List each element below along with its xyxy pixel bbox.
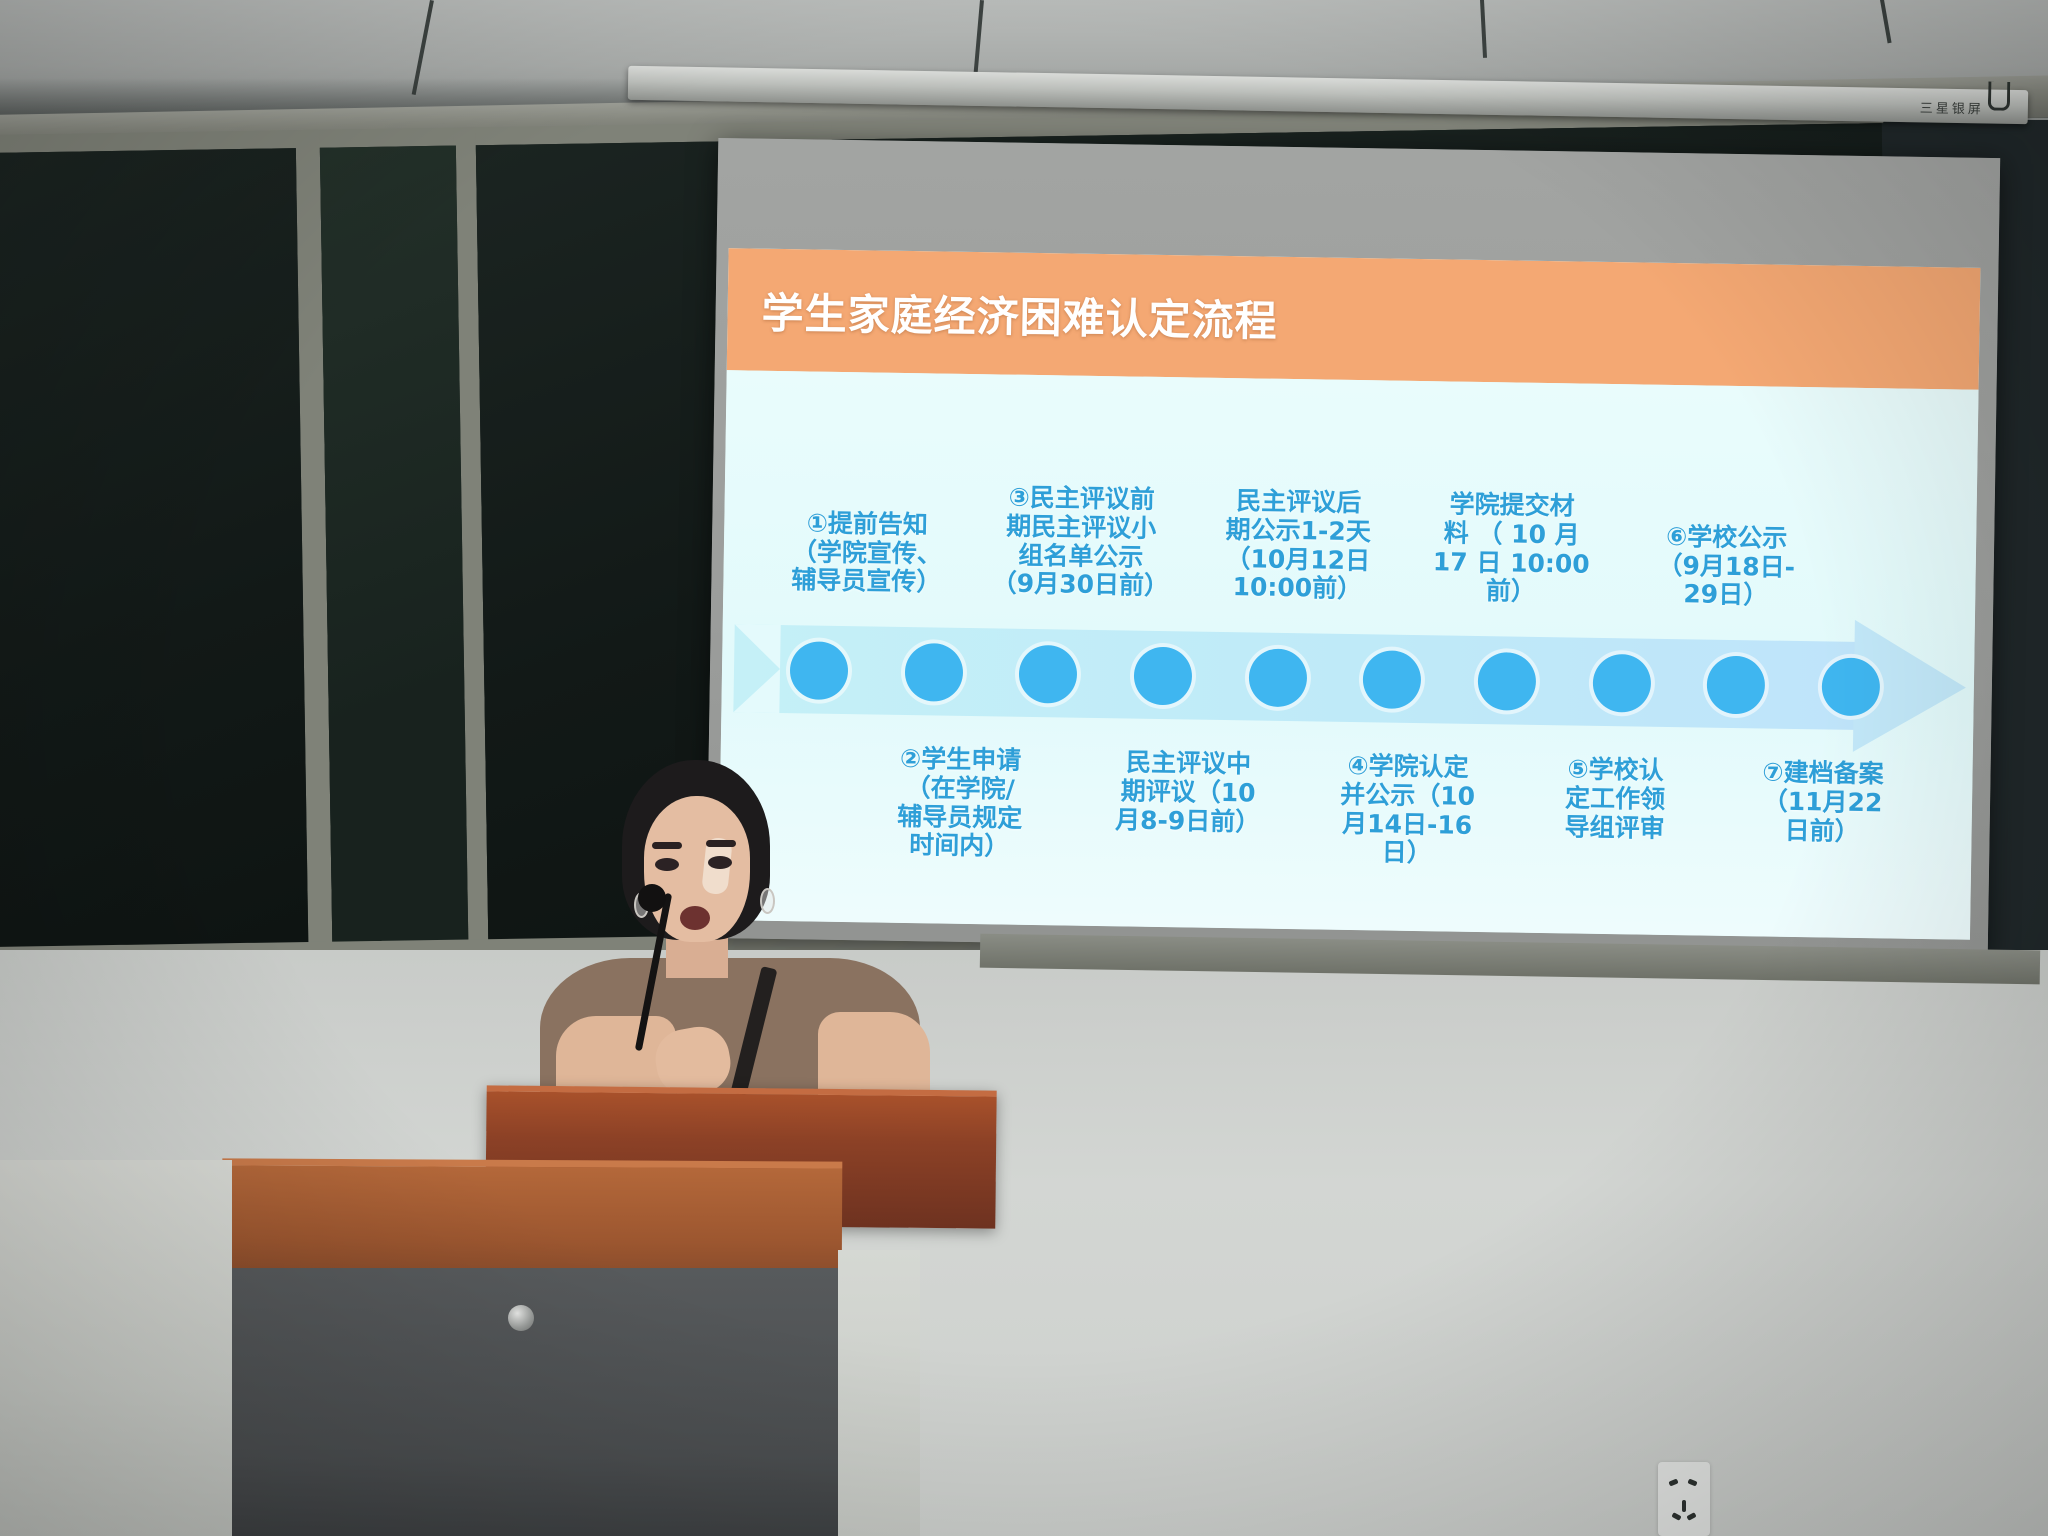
timeline-bottom-label-5: ⑦建档备案 （11月22 日前） [1729,758,1915,847]
timeline-bottom-label-4: ⑤学校认 定工作领 导组评审 [1524,755,1705,844]
wall-outlet[interactable] [1658,1462,1710,1536]
timeline-bottom-label-1: ②学生申请 （在学院/ 辅导员规定 时间内） [859,744,1061,862]
podium-side-left [0,1160,232,1536]
microphone-icon [638,884,666,912]
ceiling-seam [973,0,984,78]
timeline-dot [1248,648,1307,707]
timeline-dot [1019,645,1078,704]
timeline-top-label-1: ①提前告知 （学院宣传、 辅导员宣传） [761,508,972,598]
screen-hook-icon [1988,82,2011,111]
timeline-dot [1592,654,1651,713]
timeline-bottom-labels: ②学生申请 （在学院/ 辅导员规定 时间内）民主评议中 期评议（10 月8-9日… [718,742,1973,940]
timeline-dot [790,641,849,700]
timeline-arrow [733,602,1963,753]
podium-base [222,1268,842,1536]
timeline-bottom-label-3: ④学院认定 并公示（10 月14日-16 日） [1309,751,1506,869]
podium-side-right [838,1250,920,1536]
ceiling-seam [1480,0,1487,58]
speaker-mouth [680,906,710,930]
speaker-eye-left [655,858,679,871]
slide-body: ①提前告知 （学院宣传、 辅导员宣传）③民主评议前 期民主评议小 组名单公示 （… [718,370,1978,940]
speaker-earring-right [760,888,775,914]
speaker-person [600,760,860,1120]
timeline-dot [1707,656,1766,715]
arrow-tail-notch [733,624,780,713]
timeline-top-label-5: ⑥学校公示 （9月18日- 29日） [1628,522,1824,611]
timeline-top-label-3: 民主评议后 期公示1-2天 （10月12日 10:00前） [1197,487,1399,605]
timeline-dot [1821,657,1880,716]
classroom-presentation-scene: 三星银屏 学生家庭经济困难认定流程 ①提前告知 （学院宣传、 辅导员宣传）③民主… [0,0,2048,1536]
ceiling-seam [1880,0,1892,43]
timeline-dot [1133,647,1192,706]
timeline-dot [904,643,963,702]
timeline-top-label-4: 学院提交材 料 （ 10 月 17 日 10:00 前） [1413,490,1610,608]
speaker-eye-right [708,856,732,869]
presentation-slide: 学生家庭经济困难认定流程 ①提前告知 （学院宣传、 辅导员宣传）③民主评议前 期… [718,248,1980,940]
slide-title: 学生家庭经济困难认定流程 [761,279,1278,348]
timeline-top-label-2: ③民主评议前 期民主评议小 组名单公示 （9月30日前） [975,483,1187,601]
podium-lock-knob[interactable] [508,1305,534,1331]
timeline-bottom-label-2: 民主评议中 期评议（10 月8-9日前） [1087,748,1288,837]
projection-screen: 学生家庭经济困难认定流程 ①提前告知 （学院宣传、 辅导员宣传）③民主评议前 期… [706,138,2000,958]
timeline-dot [1363,650,1422,709]
timeline-dot [1477,652,1536,711]
timeline-top-labels: ①提前告知 （学院宣传、 辅导员宣传）③民主评议前 期民主评议小 组名单公示 （… [723,394,1978,614]
speaker-brow-right [706,840,736,847]
projector-brand-label: 三星银屏 [1920,97,1984,117]
speaker-brow-left [652,842,682,849]
slide-header-band: 学生家庭经济困难认定流程 [727,248,1981,390]
